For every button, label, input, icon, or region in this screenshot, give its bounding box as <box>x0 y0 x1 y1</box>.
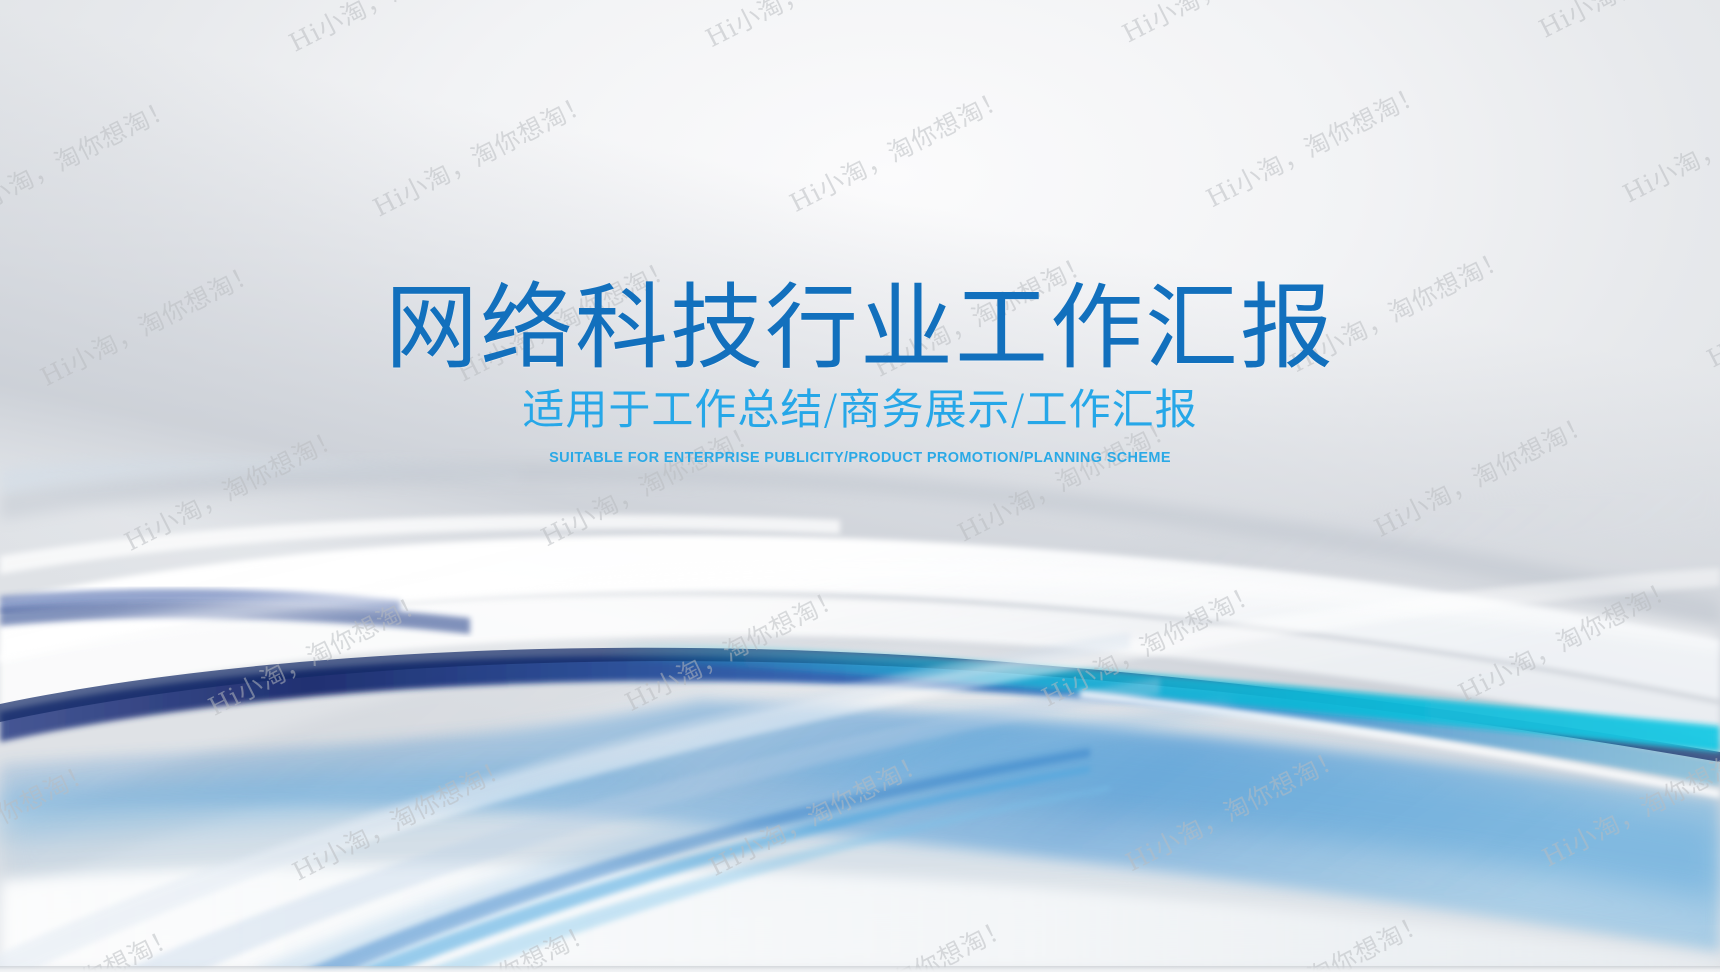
watermark-overlay: Hi小淘，淘你想淘！ Hi小淘，淘你想淘！ Hi小淘，淘你想淘！ Hi小淘，淘你… <box>0 0 1720 972</box>
title-block: 网络科技行业工作汇报 适用于工作总结/商务展示/工作汇报 SUITABLE FO… <box>0 282 1720 466</box>
presentation-slide: Hi小淘，淘你想淘！ Hi小淘，淘你想淘！ Hi小淘，淘你想淘！ Hi小淘，淘你… <box>0 0 1720 972</box>
page-subtitle: 适用于工作总结/商务展示/工作汇报 <box>0 389 1720 431</box>
slide-bottom-edge <box>0 966 1720 972</box>
page-title: 网络科技行业工作汇报 <box>0 282 1720 375</box>
page-subtitle-english: SUITABLE FOR ENTERPRISE PUBLICITY/PRODUC… <box>0 450 1720 466</box>
